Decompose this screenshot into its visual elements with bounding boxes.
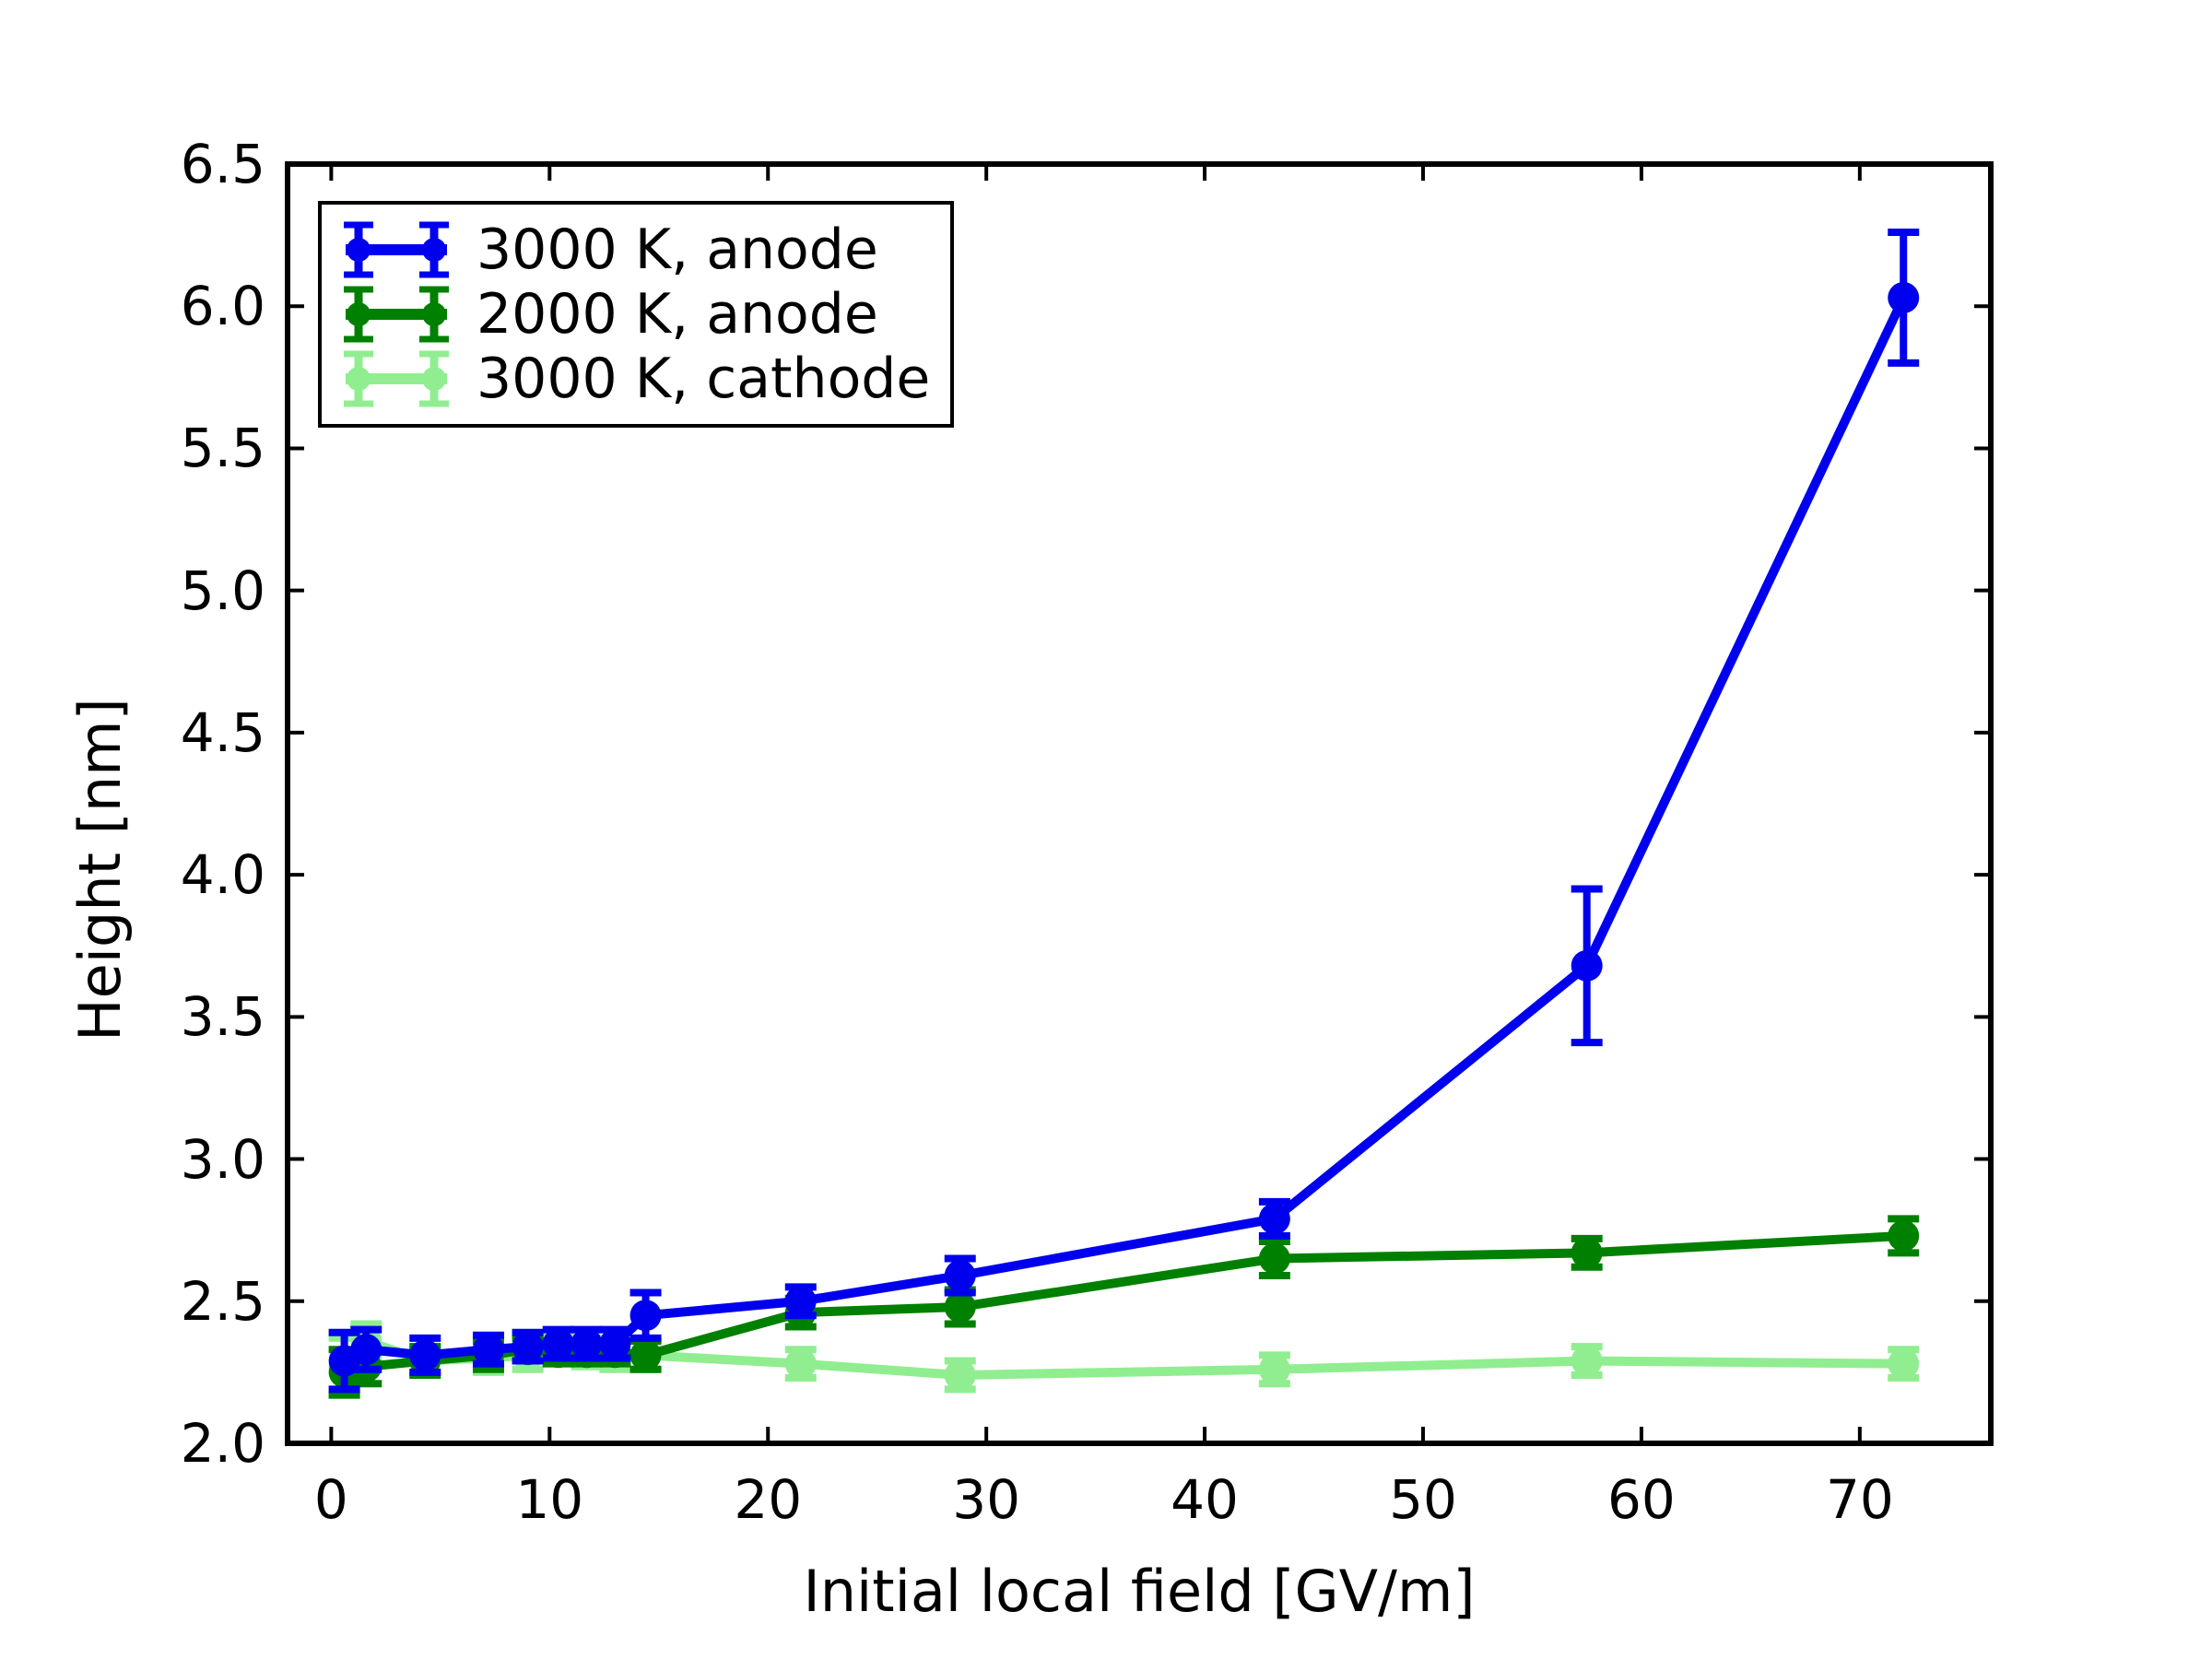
legend-swatch-series-1 [336,285,456,344]
legend-marker [347,367,371,391]
y-tick-label: 3.5 [111,990,265,1043]
x-tick-label: 20 [734,1473,802,1526]
x-tick-label: 30 [952,1473,1020,1526]
data-point-marker [1571,1346,1603,1377]
y-tick-label: 4.0 [111,848,265,901]
data-point-marker [473,1334,504,1365]
data-point-marker [945,1260,976,1291]
data-point-marker [1571,1237,1603,1268]
data-point-marker [785,1348,817,1380]
data-point-marker [785,1286,817,1317]
data-point-marker [1259,1243,1290,1275]
data-point-marker [1888,1348,1919,1380]
data-point-marker [630,1339,662,1371]
y-tick-label: 6.0 [111,279,265,333]
series-line [345,298,1904,1361]
x-tick-label: 40 [1171,1473,1239,1526]
data-point-marker [350,1334,382,1365]
chart-legend: 3000 K, anode 2000 K, anode 3000 K, cath… [318,201,954,428]
data-point-marker [599,1328,630,1359]
data-point-marker [630,1300,662,1331]
legend-marker [422,238,446,262]
x-tick-label: 60 [1607,1473,1676,1526]
x-tick-label: 50 [1389,1473,1457,1526]
data-point-marker [1571,950,1603,982]
legend-label-series-0: 3000 K, anode [477,222,878,277]
legend-item: 2000 K, anode [336,282,930,347]
legend-marker [422,367,446,391]
data-point-marker [1259,1203,1290,1234]
legend-swatch-series-2 [336,349,456,408]
data-point-marker [571,1328,603,1359]
y-tick-label: 2.0 [111,1417,265,1470]
y-tick-label: 5.5 [111,421,265,475]
y-tick-label: 2.5 [111,1275,265,1328]
data-point-marker [512,1331,544,1362]
legend-marker [347,302,371,326]
x-axis-label: Initial local field [GV/m] [803,1558,1475,1625]
data-point-marker [543,1328,574,1359]
x-tick-label: 70 [1826,1473,1894,1526]
y-tick-label: 4.5 [111,706,265,759]
data-point-marker [945,1359,976,1391]
chart-figure: Height [nm] Initial local field [GV/m] 2… [0,0,2212,1659]
y-tick-label: 3.0 [111,1133,265,1186]
y-tick-label: 6.5 [111,137,265,191]
legend-label-series-2: 3000 K, cathode [477,351,930,406]
legend-marker [422,302,446,326]
legend-marker [347,238,371,262]
legend-item: 3000 K, anode [336,218,930,282]
legend-item: 3000 K, cathode [336,347,930,411]
data-point-marker [409,1339,441,1371]
data-point-marker [1259,1354,1290,1385]
x-tick-label: 0 [314,1473,348,1526]
x-tick-label: 10 [515,1473,583,1526]
legend-swatch-series-0 [336,220,456,279]
data-point-marker [1888,282,1919,313]
y-tick-label: 5.0 [111,564,265,618]
data-point-marker [1888,1220,1919,1252]
legend-label-series-1: 2000 K, anode [477,287,878,342]
